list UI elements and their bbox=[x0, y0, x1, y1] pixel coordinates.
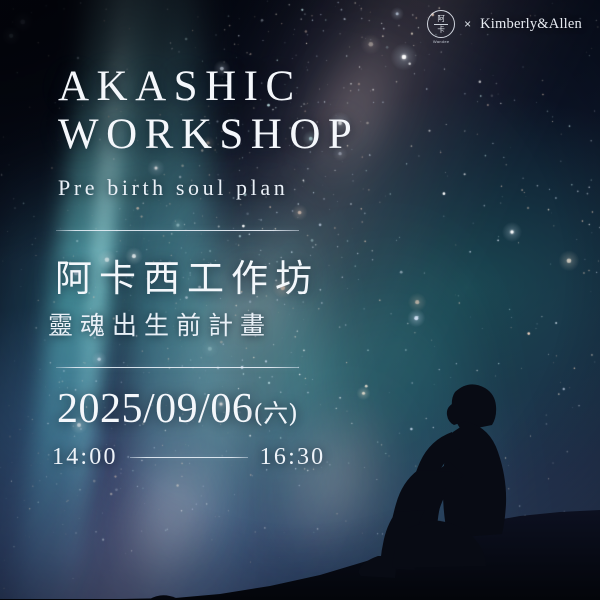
event-time-start: 14:00 bbox=[52, 444, 118, 471]
brand-logo-char-bottom: 卡 bbox=[437, 26, 445, 34]
title-english-line-2: WORKSHOP bbox=[58, 110, 359, 159]
poster-content: 阿 卡 Wandee × Kimberly&Allen AKASHIC WORK… bbox=[0, 0, 600, 600]
subtitle-chinese: 靈魂出生前計畫 bbox=[48, 306, 272, 342]
title-chinese: 阿卡西工作坊 bbox=[55, 248, 319, 302]
brand-logo-char-top: 阿 bbox=[437, 15, 445, 23]
brand-logo[interactable]: 阿 卡 Wandee bbox=[427, 10, 455, 44]
event-date: 2025/09/06 bbox=[57, 385, 253, 433]
poster-canvas: 阿 卡 Wandee × Kimberly&Allen AKASHIC WORK… bbox=[0, 0, 600, 600]
time-range-connector bbox=[130, 457, 248, 458]
event-date-row: 2025/09/06 (六) bbox=[57, 385, 298, 433]
brand-logo-circle-icon: 阿 卡 bbox=[427, 10, 455, 38]
partner-name: Kimberly&Allen bbox=[480, 16, 582, 39]
title-english-line-1: AKASHIC bbox=[58, 62, 302, 111]
event-time-end: 16:30 bbox=[260, 444, 326, 471]
divider-upper bbox=[56, 230, 299, 231]
brand-logo-subtext: Wandee bbox=[433, 40, 450, 44]
divider-lower bbox=[56, 367, 299, 368]
brand-lockup[interactable]: 阿 卡 Wandee × Kimberly&Allen bbox=[427, 10, 582, 44]
collaboration-cross-icon: × bbox=[464, 17, 471, 37]
event-weekday: (六) bbox=[253, 394, 298, 430]
event-time-row: 14:00 16:30 bbox=[52, 444, 325, 471]
subtitle-english: Pre birth soul plan bbox=[58, 175, 288, 201]
